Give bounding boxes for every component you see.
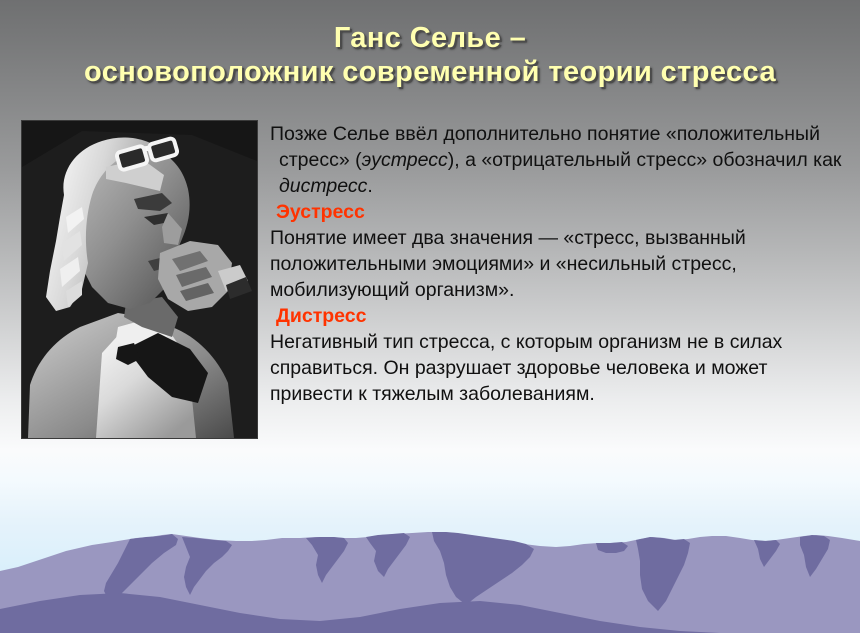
mountain-silhouette	[0, 513, 860, 633]
heading-eustress: Эустресс	[270, 200, 850, 225]
portrait-photo-image	[22, 121, 257, 438]
intro-paragraph: Позже Селье ввёл дополнительно понятие «…	[270, 121, 850, 200]
title-line-1: Ганс Селье –	[0, 22, 860, 56]
paragraph-distress: Негативный тип стресса, с которым органи…	[270, 329, 850, 408]
portrait-photo	[21, 120, 258, 439]
slide-canvas: Ганс Селье – основоположник современной …	[0, 0, 860, 633]
intro-italic-eustress: эустресс	[362, 149, 448, 171]
paragraph-eustress: Понятие имеет два значения — «стресс, вы…	[270, 225, 850, 304]
intro-part-3: .	[367, 175, 372, 197]
heading-distress: Дистресс	[270, 304, 850, 329]
intro-italic-distress: дистресс	[279, 175, 367, 197]
intro-part-2: ), а «отрицательный стресс» обозначил ка…	[448, 149, 842, 171]
body-text-column: Позже Селье ввёл дополнительно понятие «…	[270, 121, 850, 408]
slide-title: Ганс Селье – основоположник современной …	[0, 22, 860, 89]
title-line-2: основоположник современной теории стресс…	[0, 56, 860, 90]
